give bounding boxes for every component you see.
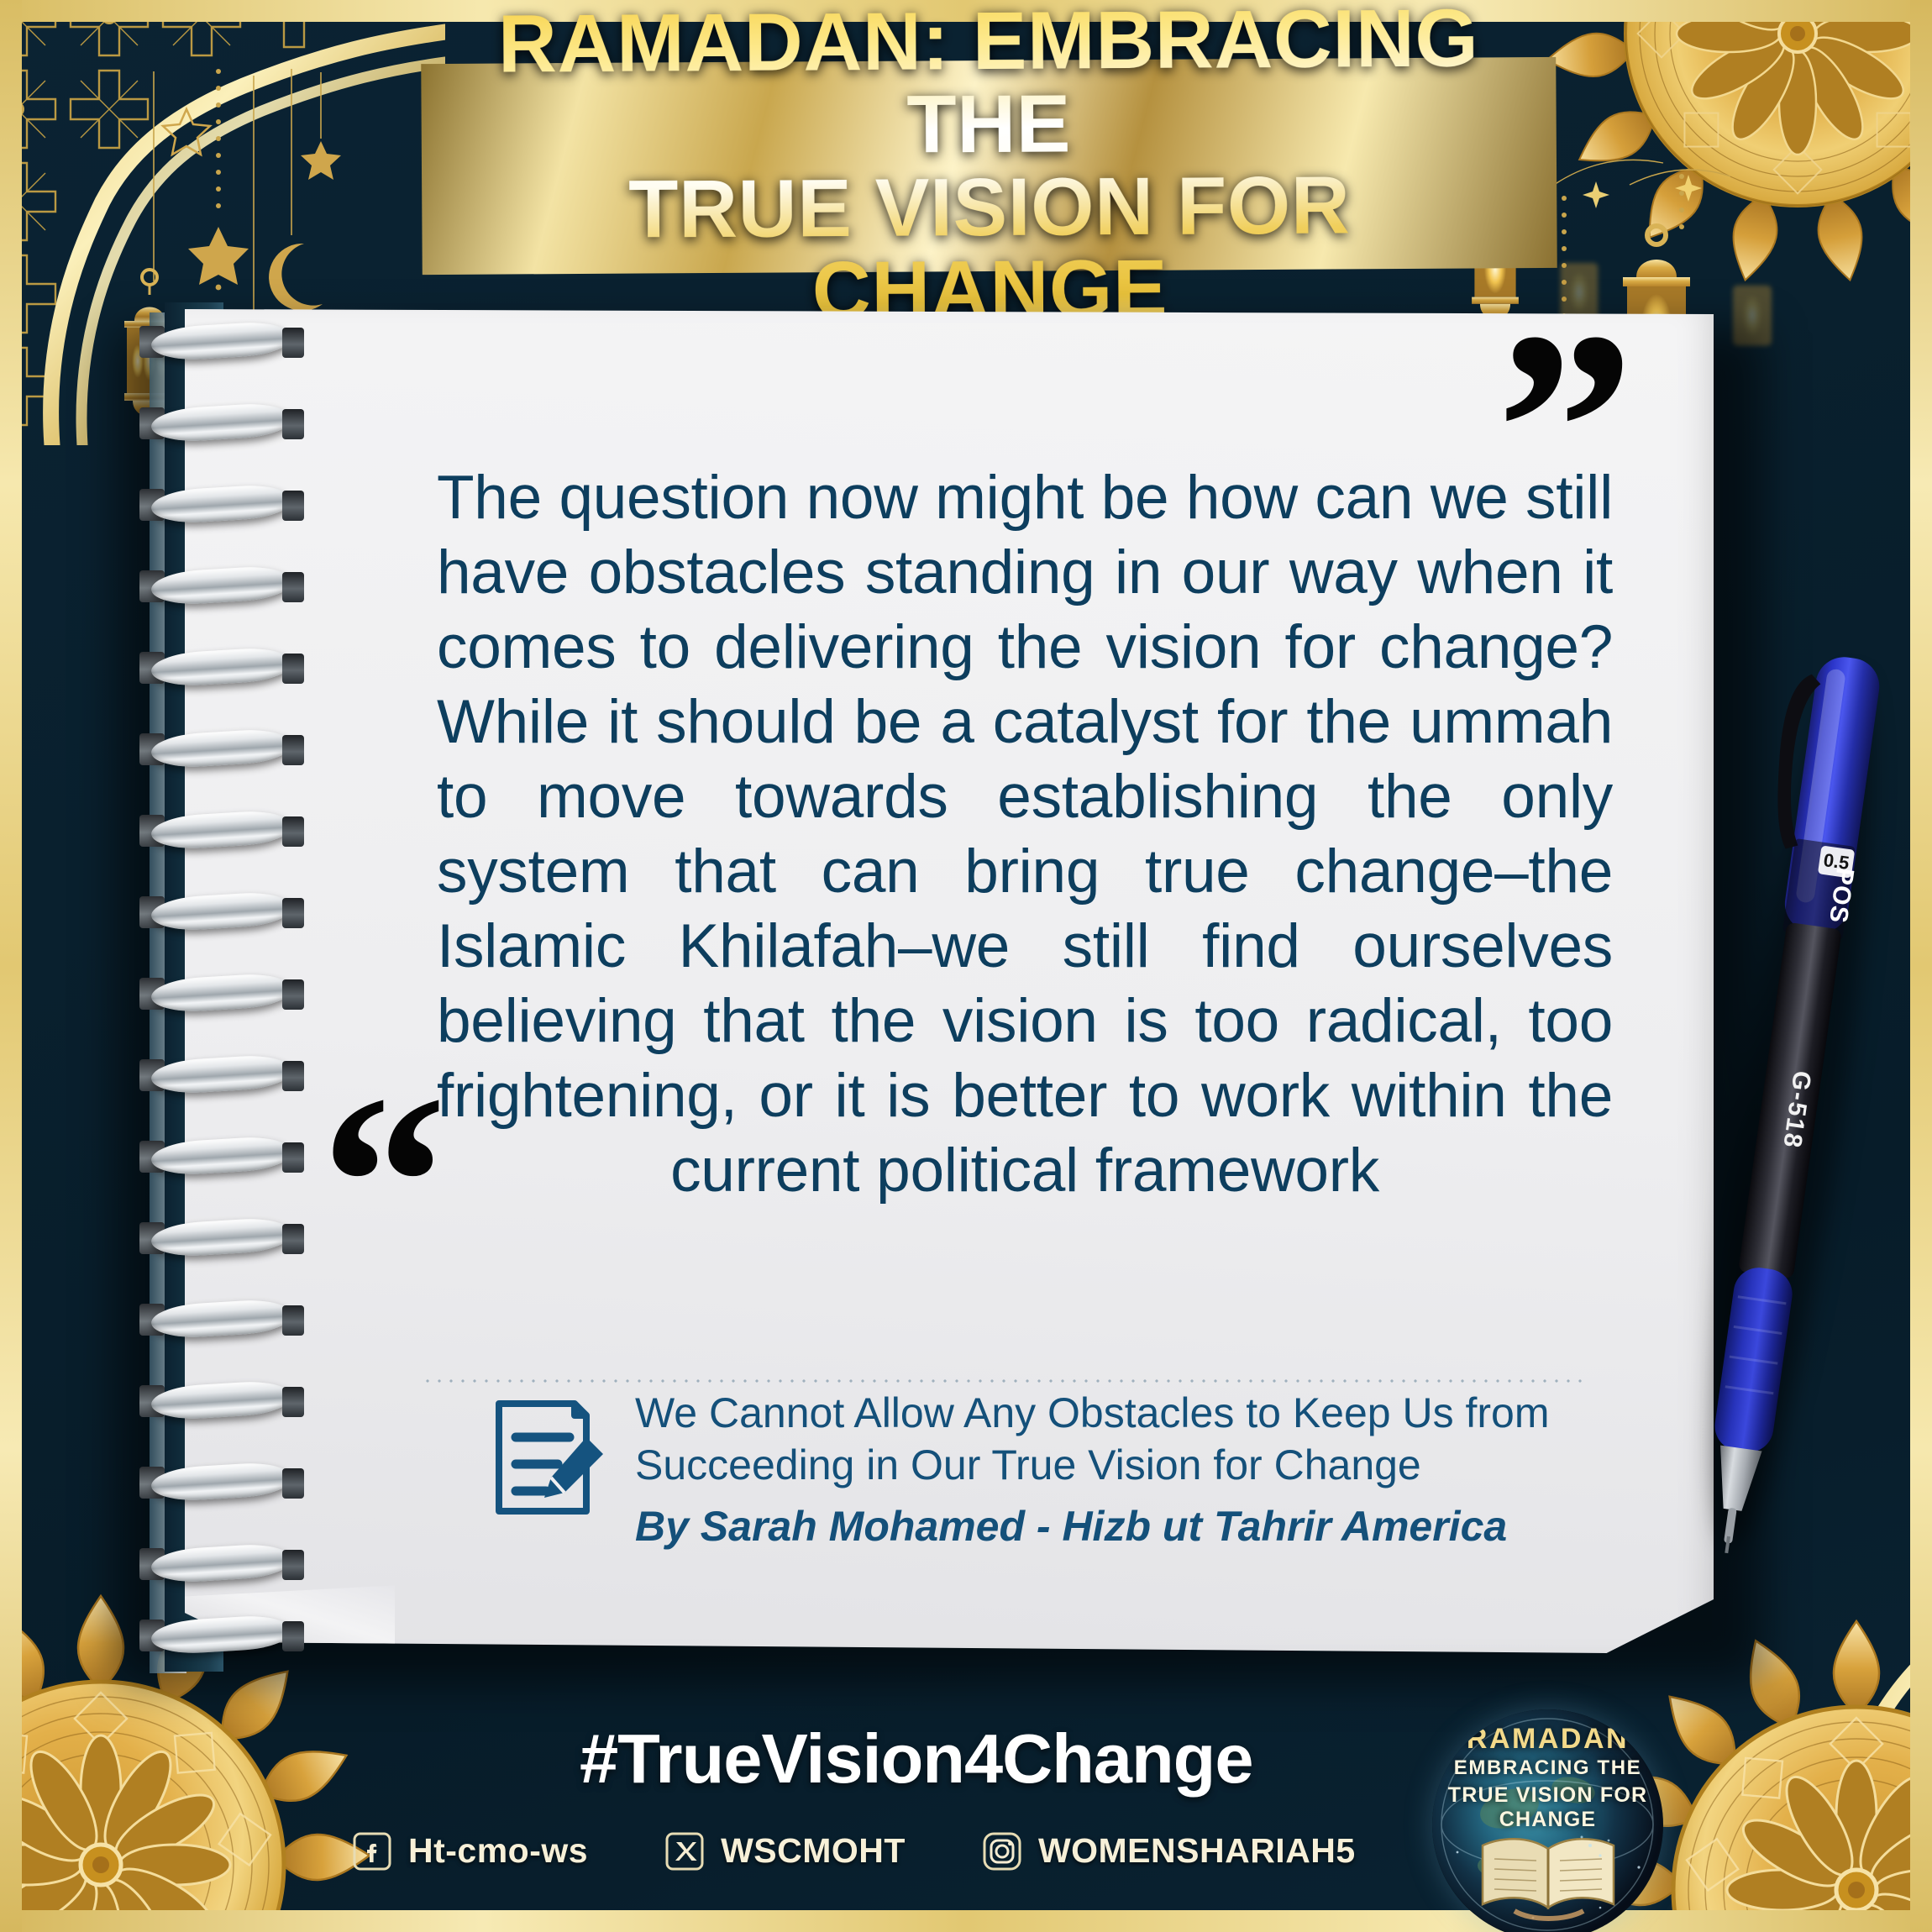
- spiral-coil: [139, 1383, 304, 1422]
- spiral-coil: [139, 1302, 304, 1341]
- quote-body-text: The question now might be how can we sti…: [437, 460, 1613, 1208]
- frame-border-right: [1910, 0, 1932, 1932]
- svg-text:POS: POS: [1824, 866, 1859, 925]
- svg-text:0.5: 0.5: [1822, 849, 1851, 874]
- spiral-coil: [139, 1221, 304, 1259]
- spiral-coil: [139, 1618, 304, 1656]
- instagram-handle: WOMENSHARIAH5: [1038, 1831, 1356, 1871]
- poster-canvas: RAMADAN: EMBRACING THE TRUE VISION FOR C…: [0, 0, 1932, 1932]
- page-title-line1: RAMADAN: EMBRACING THE: [497, 0, 1478, 170]
- spiral-coil: [139, 324, 304, 363]
- spiral-coil: [139, 976, 304, 1015]
- social-links: Ht-cmo-ws WSCMOHT WOMENSHARIAH5: [353, 1831, 1378, 1871]
- section-divider: [422, 1379, 1589, 1383]
- notebook: ” The question now might be how can we s…: [101, 309, 1772, 1687]
- spiral-coil: [139, 1058, 304, 1096]
- social-link-x[interactable]: WSCMOHT: [665, 1831, 906, 1871]
- article-byline: By Sarah Mohamed - Hizb ut Tahrir Americ…: [635, 1499, 1549, 1554]
- attribution-block: We Cannot Allow Any Obstacles to Keep Us…: [487, 1387, 1596, 1554]
- facebook-handle: Ht-cmo-ws: [408, 1831, 588, 1871]
- article-title-line2: Succeeding in Our True Vision for Change: [635, 1441, 1421, 1488]
- notebook-page: ” The question now might be how can we s…: [185, 309, 1714, 1653]
- attribution-text: We Cannot Allow Any Obstacles to Keep Us…: [635, 1387, 1549, 1554]
- social-link-facebook[interactable]: Ht-cmo-ws: [353, 1831, 588, 1871]
- social-link-instagram[interactable]: WOMENSHARIAH5: [983, 1831, 1356, 1871]
- spiral-coil: [139, 895, 304, 933]
- hashtag-label: #TrueVision4Change: [580, 1719, 1253, 1799]
- notebook-spiral-binding: [139, 324, 333, 1664]
- badge-line2: EMBRACING THE: [1432, 1756, 1663, 1780]
- spiral-coil: [139, 1546, 304, 1585]
- instagram-icon[interactable]: [983, 1832, 1021, 1871]
- badge-line3: TRUE VISION FOR CHANGE: [1432, 1783, 1663, 1832]
- quote-open-mark: “: [321, 1057, 442, 1309]
- spiral-coil: [139, 487, 304, 526]
- badge-line1: RAMADAN: [1432, 1723, 1663, 1756]
- spiral-coil: [139, 650, 304, 689]
- article-title: We Cannot Allow Any Obstacles to Keep Us…: [635, 1387, 1549, 1491]
- spiral-coil: [139, 569, 304, 607]
- spiral-coil: [139, 1139, 304, 1178]
- document-pencil-icon: [487, 1394, 605, 1520]
- x-twitter-icon[interactable]: [665, 1832, 704, 1871]
- frame-border-left: [0, 0, 22, 1932]
- spiral-coil: [139, 406, 304, 444]
- campaign-badge: RAMADAN EMBRACING THE TRUE VISION FOR CH…: [1432, 1709, 1663, 1932]
- spiral-coil: [139, 813, 304, 852]
- open-quran-book-icon: [1464, 1817, 1632, 1926]
- facebook-icon[interactable]: [353, 1832, 391, 1871]
- title-banner: RAMADAN: EMBRACING THE TRUE VISION FOR C…: [423, 60, 1554, 272]
- x-handle: WSCMOHT: [721, 1831, 906, 1871]
- svg-text:G-518: G-518: [1777, 1069, 1816, 1151]
- spiral-coil: [139, 732, 304, 770]
- article-title-line1: We Cannot Allow Any Obstacles to Keep Us…: [635, 1389, 1549, 1436]
- page-title: RAMADAN: EMBRACING THE TRUE VISION FOR C…: [427, 0, 1551, 335]
- spiral-coil: [139, 1465, 304, 1504]
